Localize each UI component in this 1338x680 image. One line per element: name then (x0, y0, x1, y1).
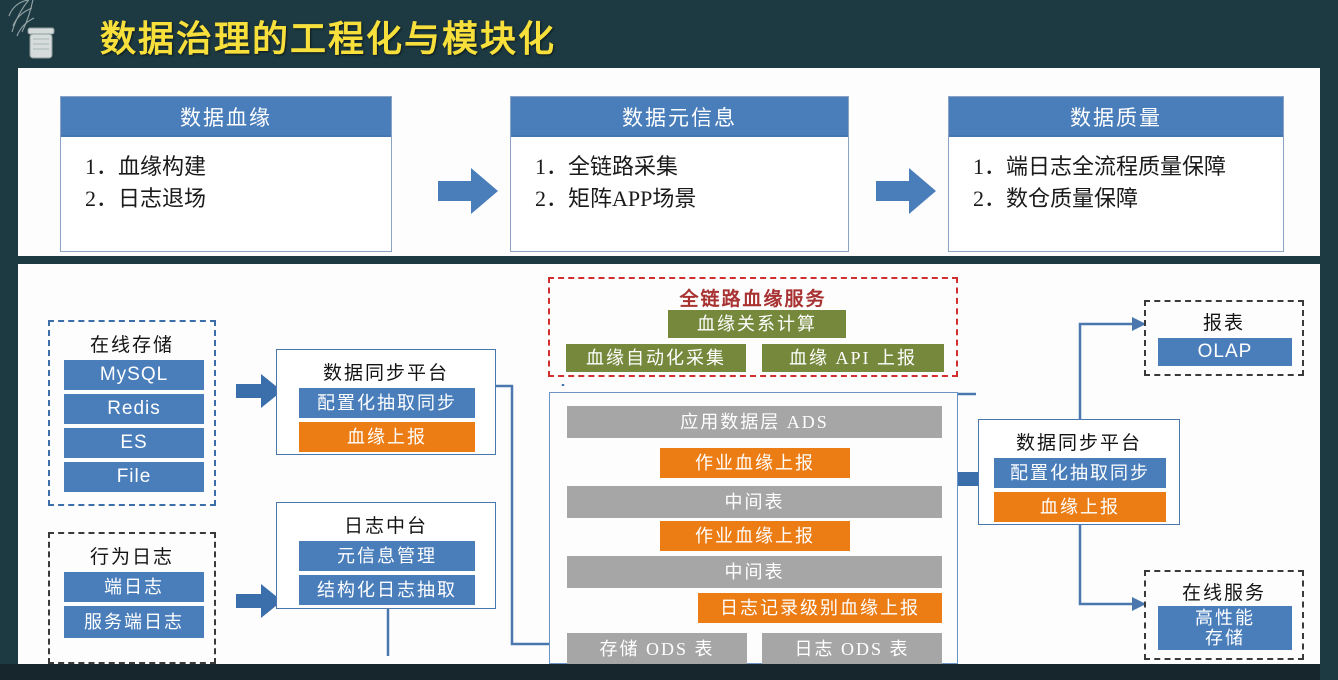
right-arrow-icon (438, 168, 498, 214)
page-title: 数据治理的工程化与模块化 (100, 10, 556, 62)
chip-file[interactable]: File (64, 462, 204, 492)
card-list-item: 2．日志退场 (85, 183, 391, 215)
group-log-platform: 日志中台 元信息管理 结构化日志抽取 (276, 502, 496, 609)
group-title-sync-platform-right: 数据同步平台 (979, 428, 1179, 455)
card-list-item: 1．端日志全流程质量保障 (973, 151, 1283, 183)
row-job-lineage-report-2[interactable]: 作业血缘上报 (660, 521, 850, 551)
chip-olap[interactable]: OLAP (1158, 338, 1292, 366)
chip-structured-log-extract[interactable]: 结构化日志抽取 (299, 575, 475, 605)
group-title-behavior-log: 行为日志 (50, 542, 214, 569)
card-metadata: 数据元信息 1．全链路采集 2．矩阵APP场景 (510, 96, 849, 252)
group-sync-platform-left: 数据同步平台 配置化抽取同步 血缘上报 (276, 349, 496, 455)
chip-server-log[interactable]: 服务端日志 (64, 606, 204, 638)
group-behavior-log: 行为日志 端日志 服务端日志 (48, 532, 216, 664)
chip-redis[interactable]: Redis (64, 394, 204, 424)
card-header-label: 数据元信息 (511, 97, 848, 137)
chip-mysql[interactable]: MySQL (64, 360, 204, 390)
row-log-record-lineage-report[interactable]: 日志记录级别血缘上报 (698, 593, 942, 623)
chip-line-1: 高性能 (1195, 608, 1255, 628)
chip-metadata-management[interactable]: 元信息管理 (299, 541, 475, 571)
card-list-item: 1．血缘构建 (85, 151, 391, 183)
card-body: 1．端日志全流程质量保障 2．数仓质量保障 (949, 137, 1283, 215)
chip-line-2: 存储 (1205, 628, 1245, 648)
decorative-plant-icon (4, 0, 74, 64)
group-title-online-service: 在线服务 (1146, 578, 1302, 605)
bottom-edge-strip (0, 664, 1338, 680)
chip-client-log[interactable]: 端日志 (64, 572, 204, 602)
group-title-log-platform: 日志中台 (277, 511, 495, 538)
group-online-storage: 在线存储 MySQL Redis ES File (48, 320, 216, 506)
slide-header-bar: 数据治理的工程化与模块化 (0, 0, 1338, 68)
chip-es[interactable]: ES (64, 428, 204, 458)
card-list-item: 2．矩阵APP场景 (535, 183, 848, 215)
card-data-lineage: 数据血缘 1．血缘构建 2．日志退场 (60, 96, 392, 252)
chip-lineage-report[interactable]: 血缘上报 (299, 422, 475, 452)
row-mid-table-1[interactable]: 中间表 (567, 486, 942, 518)
row-job-lineage-report-1[interactable]: 作业血缘上报 (660, 448, 850, 478)
card-body: 1．全链路采集 2．矩阵APP场景 (511, 137, 848, 215)
lineage-service-group: 全链路血缘服务 血缘关系计算 血缘自动化采集 血缘 API 上报 (548, 277, 958, 377)
group-title-report: 报表 (1146, 308, 1302, 335)
chip-config-extract-sync-right[interactable]: 配置化抽取同步 (994, 458, 1166, 488)
data-warehouse-stack-panel: 应用数据层 ADS 作业血缘上报 中间表 作业血缘上报 中间表 日志记录级别血缘… (549, 392, 958, 664)
group-title-sync-platform-left: 数据同步平台 (277, 358, 495, 385)
chip-lineage-auto-collect[interactable]: 血缘自动化采集 (566, 344, 746, 372)
group-report: 报表 OLAP (1144, 300, 1304, 376)
card-list-item: 1．全链路采集 (535, 151, 848, 183)
top-summary-panel: 数据血缘 1．血缘构建 2．日志退场 数据元信息 1．全链路采集 2．矩阵APP… (18, 68, 1320, 256)
row-mid-table-2[interactable]: 中间表 (567, 556, 942, 588)
card-list-item: 2．数仓质量保障 (973, 183, 1283, 215)
group-online-service: 在线服务 高性能 存储 (1144, 570, 1304, 660)
row-ads[interactable]: 应用数据层 ADS (567, 406, 942, 438)
lineage-service-title: 全链路血缘服务 (550, 284, 956, 311)
card-body: 1．血缘构建 2．日志退场 (61, 137, 391, 215)
row-storage-ods-table[interactable]: 存储 ODS 表 (567, 633, 747, 665)
chip-high-performance-storage[interactable]: 高性能 存储 (1158, 606, 1292, 650)
card-data-quality: 数据质量 1．端日志全流程质量保障 2．数仓质量保障 (948, 96, 1284, 252)
card-header-label: 数据血缘 (61, 97, 391, 137)
chip-config-extract-sync[interactable]: 配置化抽取同步 (299, 388, 475, 418)
architecture-panel: 全链路血缘服务 血缘关系计算 血缘自动化采集 血缘 API 上报 在线存储 My… (18, 264, 1320, 664)
right-arrow-icon (876, 168, 936, 214)
chip-lineage-relation-compute[interactable]: 血缘关系计算 (668, 310, 846, 338)
card-header-label: 数据质量 (949, 97, 1283, 137)
group-sync-platform-right: 数据同步平台 配置化抽取同步 血缘上报 (978, 419, 1180, 525)
chip-lineage-report-right[interactable]: 血缘上报 (994, 492, 1166, 522)
group-title-online-storage: 在线存储 (50, 330, 214, 357)
row-log-ods-table[interactable]: 日志 ODS 表 (762, 633, 942, 665)
right-edge-strip (1320, 0, 1338, 680)
chip-lineage-api-report[interactable]: 血缘 API 上报 (762, 344, 944, 372)
